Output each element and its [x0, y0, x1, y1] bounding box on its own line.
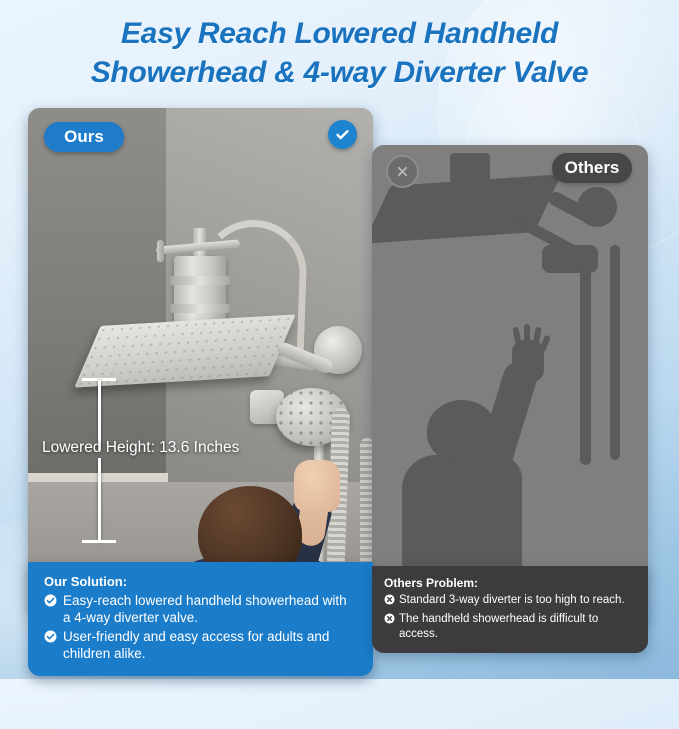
others-problem-item: Standard 3-way diverter is too high to r… [384, 593, 636, 610]
check-circle-icon [328, 120, 357, 149]
our-solution-item-text: Easy-reach lowered handheld showerhead w… [63, 592, 357, 626]
others-problem-caption: Others Problem: Standard 3-way diverter … [372, 566, 648, 653]
others-hose-secondary-silhouette [610, 245, 620, 460]
others-finger-silhouette [539, 334, 551, 352]
our-solution-item: User-friendly and easy access for adults… [44, 628, 357, 662]
others-child-head-silhouette [427, 400, 497, 462]
x-circle-icon [384, 613, 395, 629]
title-line-2: Showerhead & 4-way Diverter Valve [0, 53, 679, 92]
our-solution-heading: Our Solution: [44, 574, 357, 589]
others-filter-silhouette [450, 153, 490, 183]
others-badge: Others [552, 153, 632, 183]
others-problem-item: The handheld showerhead is difficult to … [384, 612, 636, 642]
title-line-1: Easy Reach Lowered Handheld [0, 14, 679, 53]
x-circle-icon [386, 155, 419, 188]
page-title: Easy Reach Lowered Handheld Showerhead &… [0, 14, 679, 92]
diverter-handle-stem [157, 240, 164, 262]
our-solution-caption: Our Solution: Easy-reach lowered handhel… [28, 562, 373, 676]
x-circle-icon [384, 594, 395, 610]
our-solution-item-text: User-friendly and easy access for adults… [63, 628, 357, 662]
check-circle-icon [44, 630, 57, 647]
shower-wall-left [28, 108, 166, 482]
others-hose-silhouette [580, 265, 591, 465]
child-hand [294, 460, 340, 512]
our-solution-item: Easy-reach lowered handheld showerhead w… [44, 592, 357, 626]
ours-panel: Lowered Height: 13.6 Inches Ours [28, 108, 373, 613]
check-circle-icon [44, 594, 57, 611]
measurement-cap-bottom [82, 540, 116, 543]
others-problem-item-text: Standard 3-way diverter is too high to r… [399, 593, 625, 608]
ours-badge: Ours [44, 122, 124, 152]
others-problem-heading: Others Problem: [384, 576, 636, 590]
others-silhouette-illustration [372, 145, 648, 627]
others-panel: Others [372, 145, 648, 627]
measurement-line-lower [98, 458, 101, 542]
ours-product-photo: Lowered Height: 13.6 Inches [28, 108, 373, 613]
others-child-hand-silhouette [512, 340, 544, 382]
others-problem-item-text: The handheld showerhead is difficult to … [399, 612, 636, 642]
lowered-height-label: Lowered Height: 13.6 Inches [42, 439, 239, 457]
